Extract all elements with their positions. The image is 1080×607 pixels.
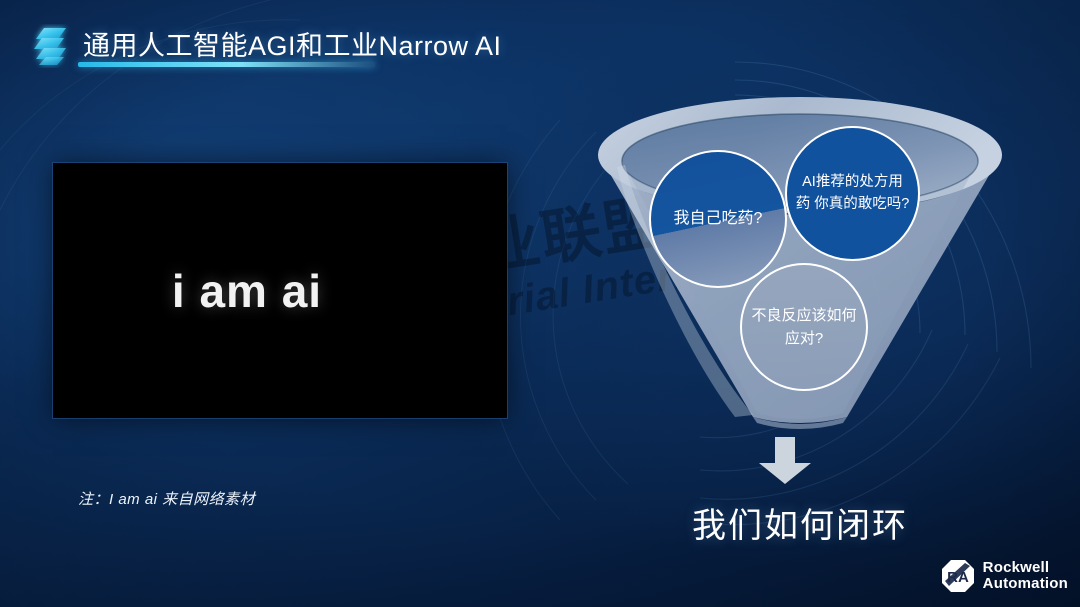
logo-line-2: Automation — [983, 576, 1068, 592]
bubble-adverse-reaction[interactable]: 不良反应该如何应对? — [740, 263, 868, 391]
media-frame[interactable]: i am ai — [53, 163, 507, 418]
title-underline — [78, 62, 375, 67]
rockwell-automation-logo: RA Rockwell Automation — [941, 559, 1068, 593]
media-caption: 注：I am ai 来自网络素材 — [78, 488, 255, 509]
logo-wordmark: Rockwell Automation — [983, 560, 1068, 592]
bubble-ai-prescription[interactable]: AI推荐的处方用药 你真的敢吃吗? — [785, 126, 920, 261]
media-screen-text: i am ai — [53, 163, 507, 418]
logo-mark-text: RA — [947, 569, 969, 586]
conclusion-text: 我们如何闭环 — [585, 498, 1015, 547]
logo-line-1: Rockwell — [983, 560, 1068, 576]
bubble-self-medication[interactable]: 我自己吃药? — [649, 150, 787, 288]
slide-canvas: 互联网产业联盟 ce of Industrial Internet 通用人工智能… — [0, 0, 1080, 607]
layered-diamond-icon — [30, 24, 72, 68]
bubble-ai-prescription-label: AI推荐的处方用药 你真的敢吃吗? — [787, 172, 918, 216]
arrow-down-icon — [757, 437, 813, 485]
bubble-self-medication-label: 我自己吃药? — [666, 208, 771, 230]
rockwell-ra-icon: RA — [941, 559, 975, 593]
bubble-adverse-reaction-label: 不良反应该如何应对? — [742, 304, 866, 351]
page-title: 通用人工智能AGI和工业Narrow AI — [83, 24, 502, 63]
